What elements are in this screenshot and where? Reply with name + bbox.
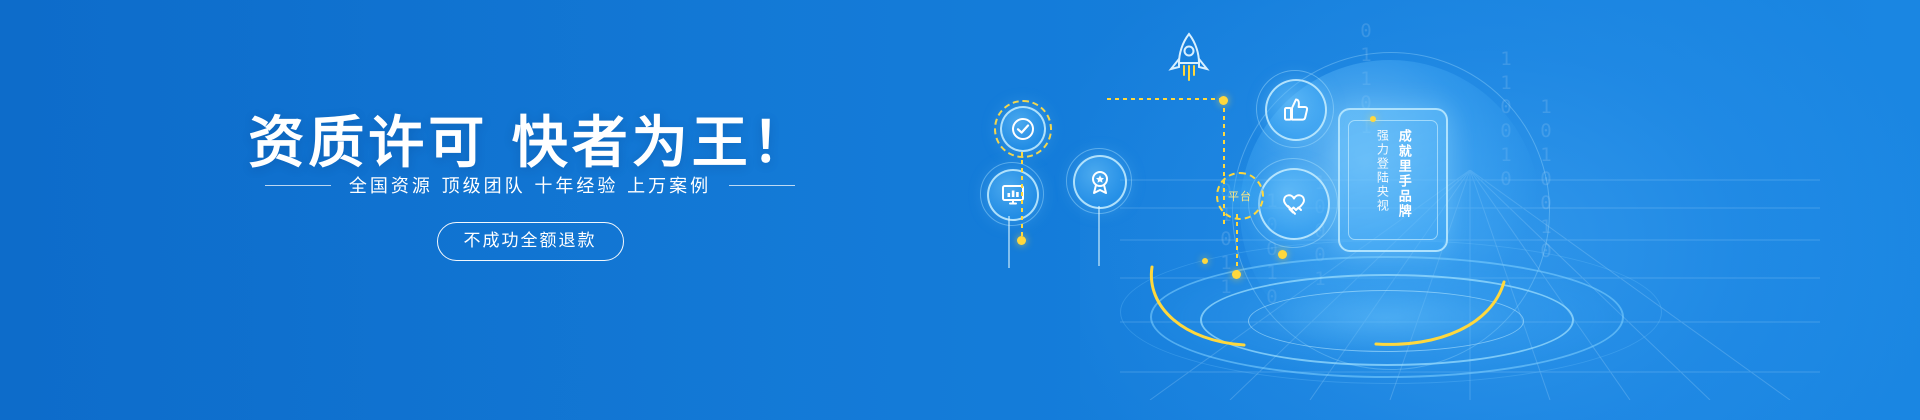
refund-guarantee-button[interactable]: 不成功全额退款 (437, 222, 624, 261)
thumbs-up-icon[interactable] (1265, 79, 1327, 141)
connector-dot-platform (1232, 270, 1241, 279)
platform-accent-arc (1140, 245, 1360, 360)
tablet-slogan-line1: 成就里手品牌 (1395, 129, 1410, 219)
cta-wrapper: 不成功全额退款 (0, 222, 1060, 261)
connector-stem-platform (1236, 214, 1238, 272)
award-medal-icon[interactable] (1073, 155, 1127, 209)
connector-stem-check (1021, 152, 1023, 238)
connector-stem-upper (1223, 100, 1225, 228)
divider-left (265, 185, 331, 186)
check-circle-icon[interactable] (1000, 106, 1046, 152)
tablet-screen: 成就里手品牌 强力登陆央视 (1348, 120, 1438, 240)
accent-dot-3 (1370, 116, 1376, 122)
bar-chart-monitor-icon[interactable] (987, 169, 1039, 221)
platform-accent-arc-right (1370, 248, 1590, 363)
tablet-slogan-line2: 强力登陆央视 (1375, 129, 1389, 213)
connector-stem-monitor (1008, 216, 1010, 268)
accent-dot-1 (1278, 250, 1287, 259)
connector-dot-check (1017, 236, 1026, 245)
page-title: 资质许可 快者为王！ (0, 98, 1060, 179)
tablet-device: 成就里手品牌 强力登陆央视 (1338, 108, 1448, 252)
connector-stem-award (1098, 206, 1100, 266)
banner-content: 资质许可 快者为王！ 全国资源 顶级团队 十年经验 上万案例 不成功全额退款 (0, 0, 1060, 420)
connector-line-horizontal (1107, 98, 1225, 100)
divider-right (729, 185, 795, 186)
accent-dot-2 (1202, 258, 1208, 264)
subtitle: 全国资源 顶级团队 十年经验 上万案例 (349, 172, 711, 198)
hero-illustration: 成就里手品牌 强力登陆央视 (940, 0, 1920, 420)
handshake-heart-icon[interactable] (1258, 168, 1330, 240)
promo-banner: 01011 10010 10001 1010010 110010 01101 资… (0, 0, 1920, 420)
subtitle-row: 全国资源 顶级团队 十年经验 上万案例 (0, 172, 1060, 198)
rocket-icon (1162, 30, 1216, 94)
platform-tag-label: 平台 (1228, 188, 1252, 204)
